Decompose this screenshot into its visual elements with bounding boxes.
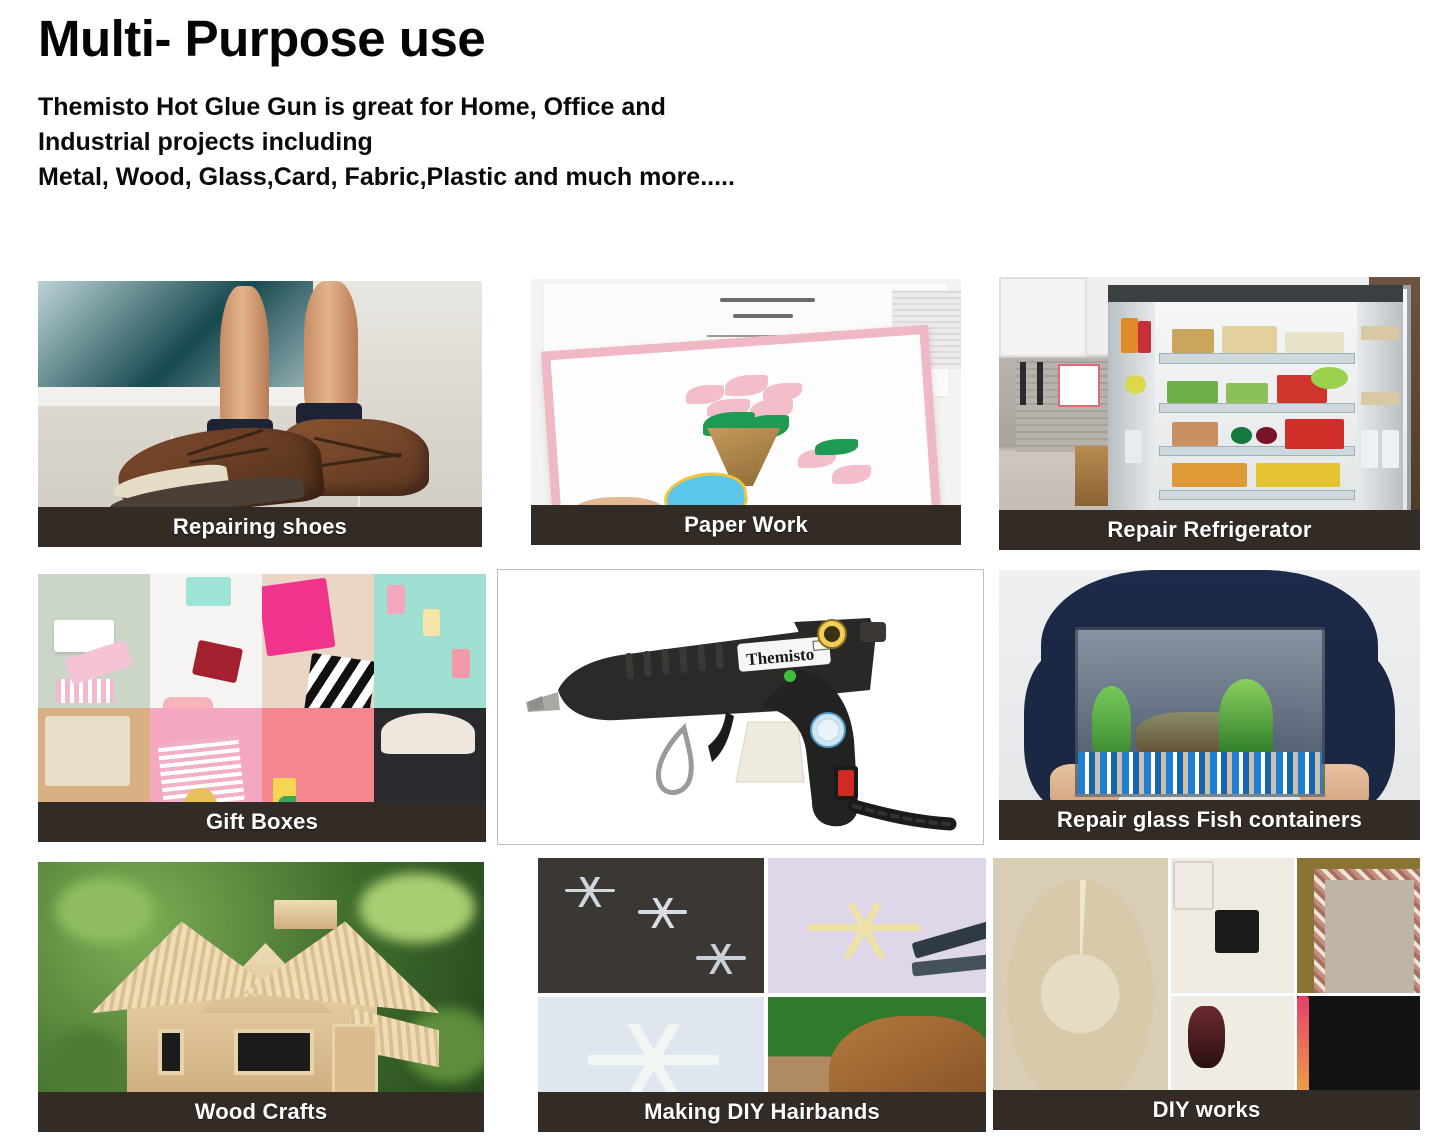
tile-caption: Repair glass Fish containers [999, 800, 1420, 840]
tile-caption: DIY works [993, 1090, 1420, 1130]
tile-diy-works[interactable]: DIY works [993, 858, 1420, 1130]
tile-caption: Wood Crafts [38, 1092, 484, 1132]
feature-grid: Repairing shoes [0, 0, 1445, 1142]
tile-caption: Repairing shoes [38, 507, 482, 547]
photo-diy-hairbands [538, 858, 986, 1132]
photo-glue-gun: Themisto [498, 570, 983, 844]
led-indicator-icon [784, 670, 796, 682]
power-switch-icon [838, 770, 854, 796]
tile-caption: Gift Boxes [38, 802, 486, 842]
tile-fish-containers[interactable]: Repair glass Fish containers [999, 570, 1420, 840]
tile-product-glue-gun[interactable]: Themisto [497, 569, 984, 845]
tile-repair-refrigerator[interactable]: Repair Refrigerator [999, 277, 1420, 550]
tile-caption: Making DIY Hairbands [538, 1092, 986, 1132]
tile-diy-hairbands[interactable]: Making DIY Hairbands [538, 858, 986, 1132]
tile-caption: Paper Work [531, 505, 961, 545]
tile-gift-boxes[interactable]: Gift Boxes [38, 574, 486, 842]
tile-paper-work[interactable]: Paper Work [531, 279, 961, 545]
tile-caption: Repair Refrigerator [999, 510, 1420, 550]
infographic-page: Multi- Purpose use Themisto Hot Glue Gun… [0, 0, 1445, 1142]
tile-repairing-shoes[interactable]: Repairing shoes [38, 281, 482, 547]
tile-wood-crafts[interactable]: Wood Crafts [38, 862, 484, 1132]
glue-gun-illustration: Themisto [498, 570, 983, 844]
